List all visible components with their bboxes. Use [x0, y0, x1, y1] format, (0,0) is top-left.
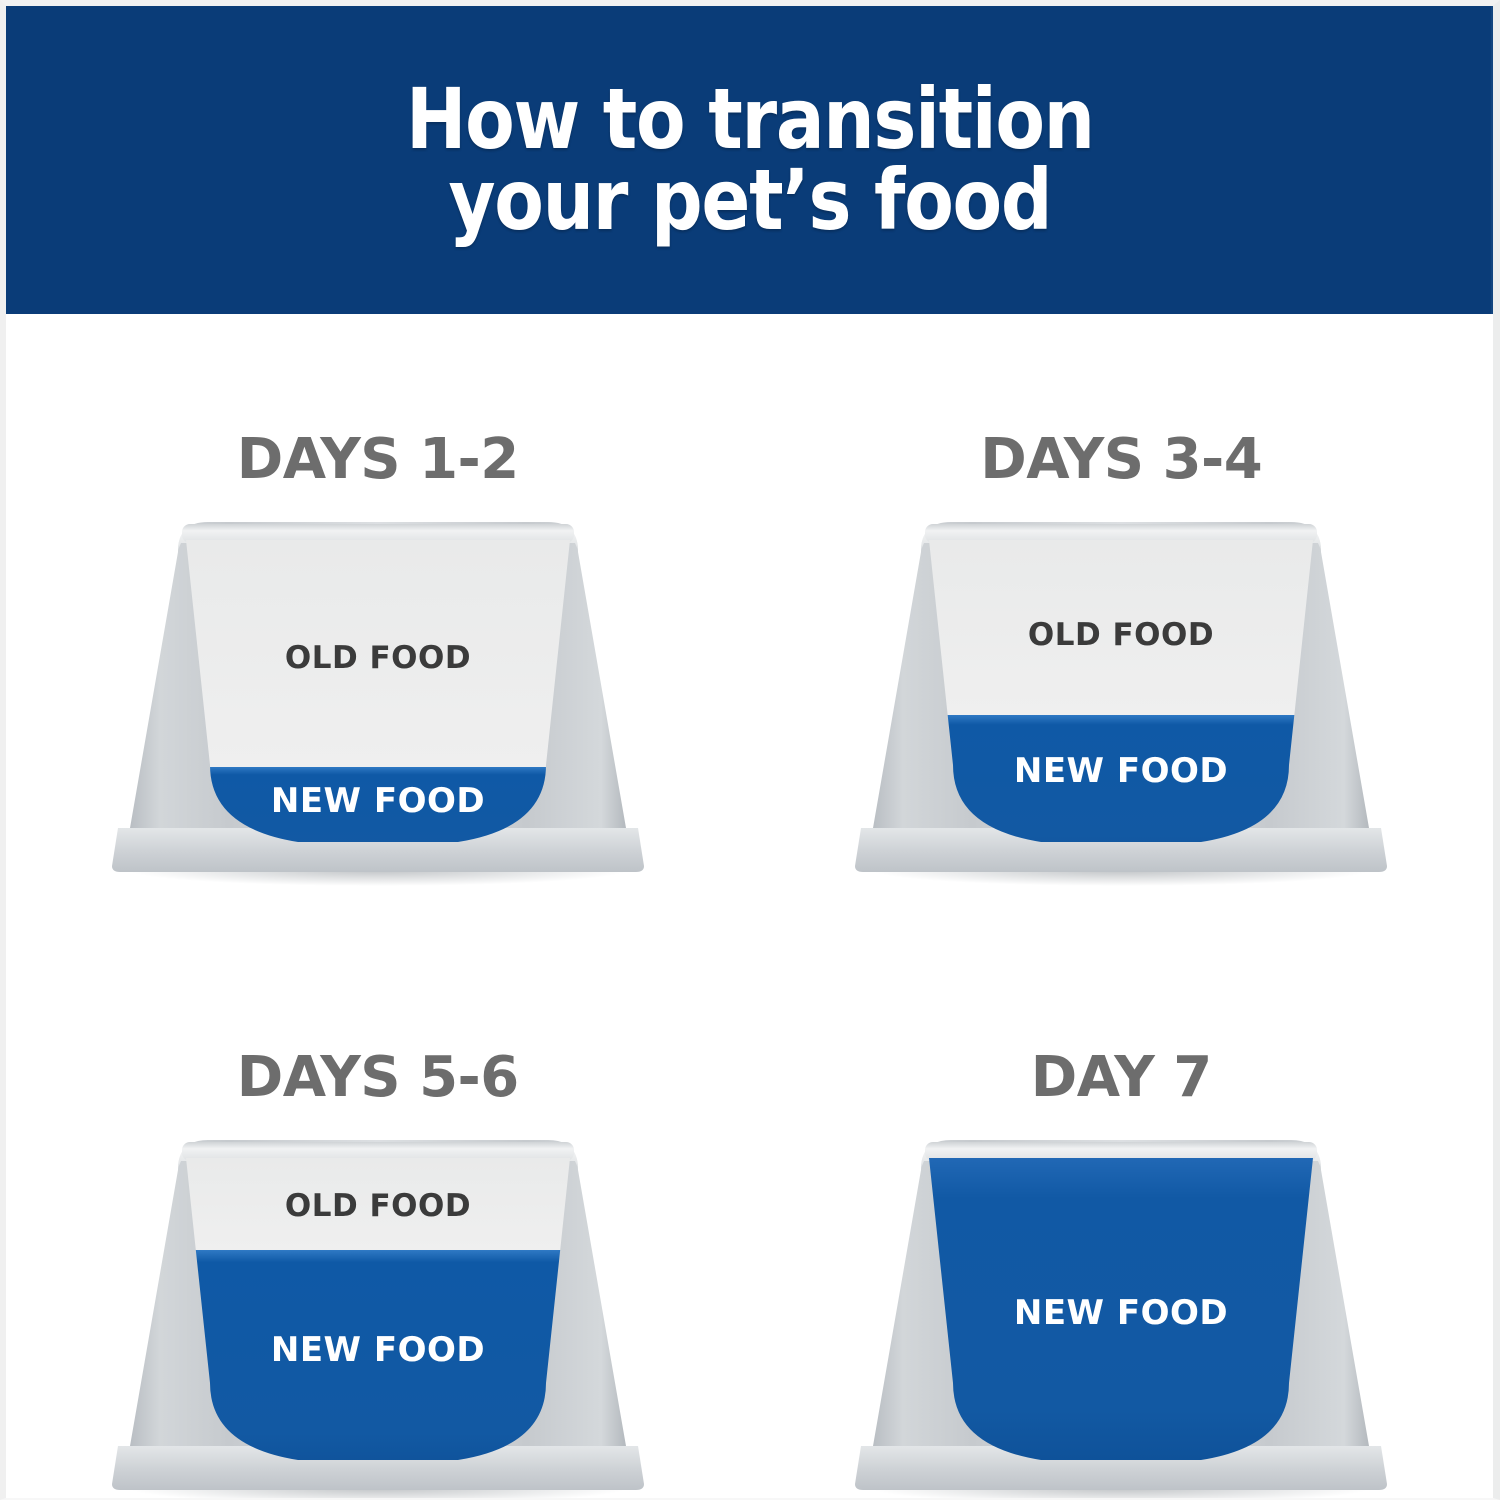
step-days-1-2: DAYS 1-2: [6, 314, 750, 930]
new-food-label: NEW FOOD: [271, 1330, 485, 1370]
bowl-days-1-2: OLD FOOD NEW FOOD: [78, 510, 678, 930]
page-title-line-2: your pet’s food: [406, 160, 1094, 241]
bowl-days-5-6: OLD FOOD NEW FOOD: [78, 1128, 678, 1500]
new-food-label: NEW FOOD: [1014, 751, 1228, 791]
bowl-day-7: NEW FOOD: [821, 1128, 1421, 1500]
new-food-label: NEW FOOD: [1014, 1293, 1228, 1333]
old-food-label: OLD FOOD: [1028, 617, 1214, 653]
step-days-5-6: DAYS 5-6: [6, 930, 750, 1500]
old-food-label: OLD FOOD: [285, 1188, 471, 1224]
steps-grid: DAYS 1-2: [6, 314, 1493, 1498]
page-title-line-1: How to transition: [406, 79, 1094, 160]
bowl-days-3-4: OLD FOOD NEW FOOD: [821, 510, 1421, 930]
new-food-label: NEW FOOD: [271, 781, 485, 821]
header-banner: How to transition your pet’s food: [6, 6, 1493, 314]
step-label-days-1-2: DAYS 1-2: [237, 314, 519, 488]
step-days-3-4: DAYS 3-4: [750, 314, 1494, 930]
infographic-page: How to transition your pet’s food DAYS 1…: [0, 0, 1500, 1500]
step-label-day-7: DAY 7: [1031, 930, 1212, 1106]
old-food-label: OLD FOOD: [285, 640, 471, 676]
page-title: How to transition your pet’s food: [371, 79, 1128, 240]
step-label-days-5-6: DAYS 5-6: [237, 930, 519, 1106]
step-day-7: DAY 7: [750, 930, 1494, 1500]
step-label-days-3-4: DAYS 3-4: [980, 314, 1262, 488]
